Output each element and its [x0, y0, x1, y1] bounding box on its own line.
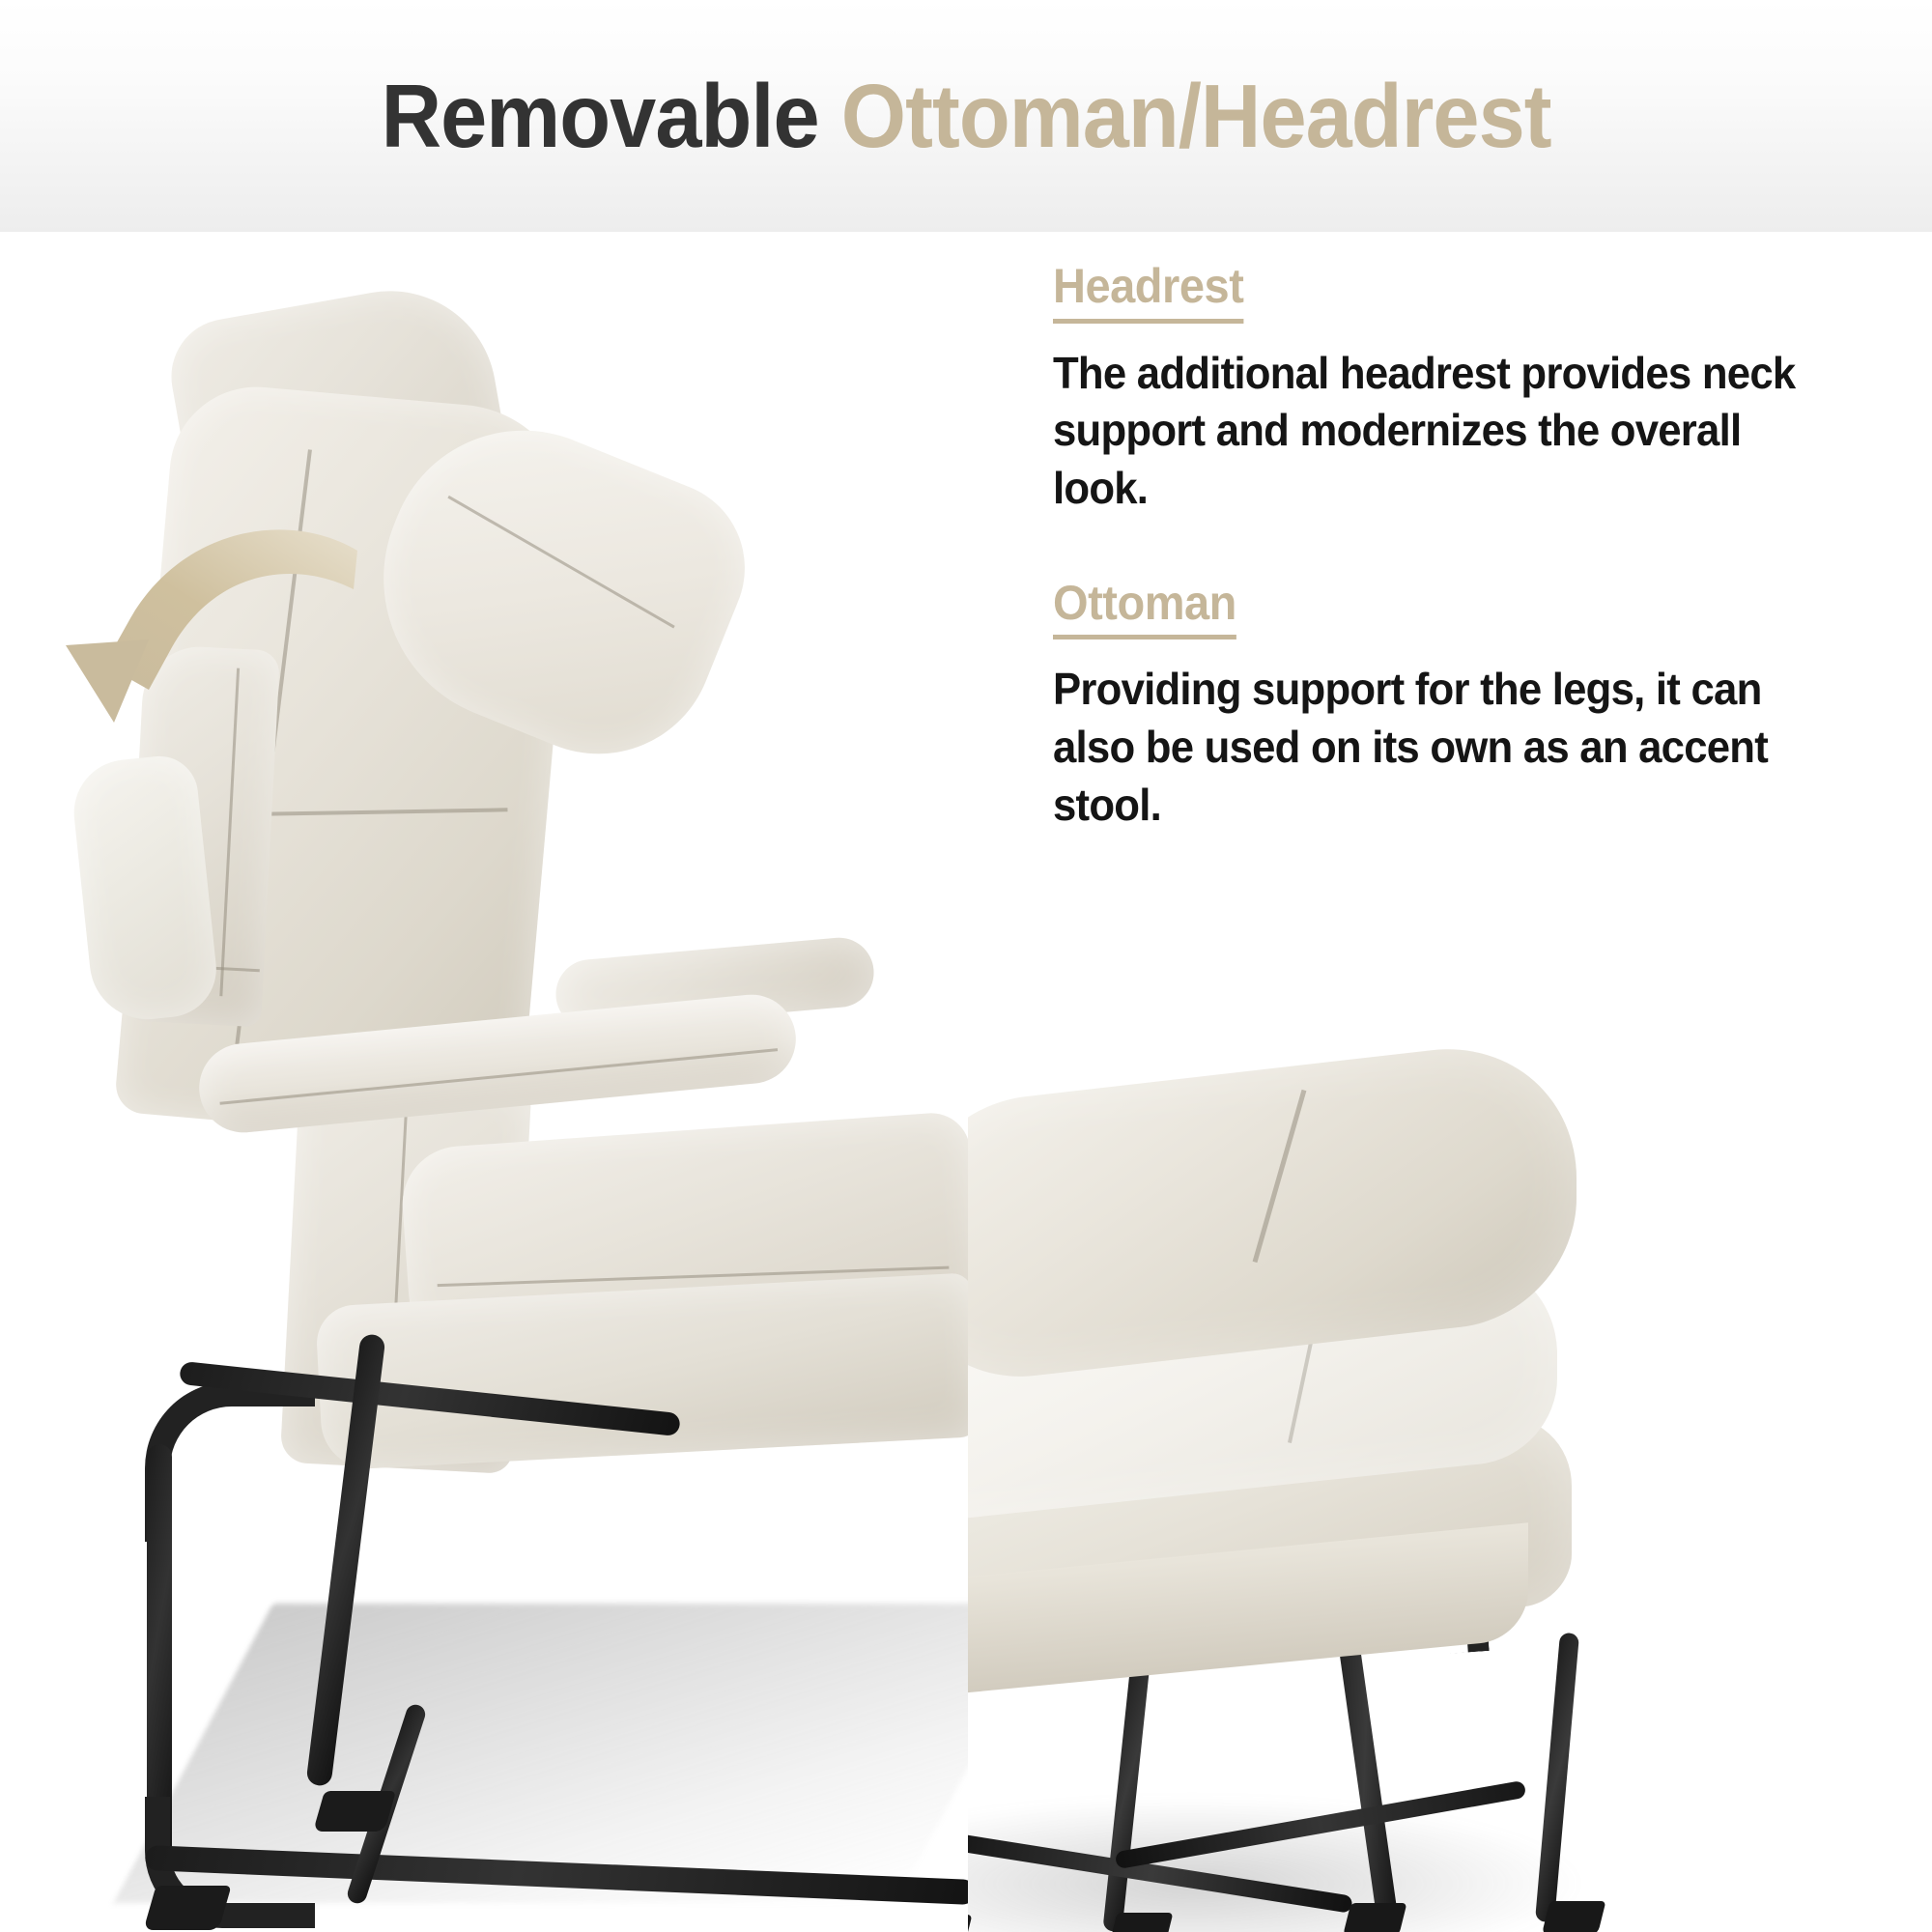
- ottoman-foot-cap: [1343, 1903, 1407, 1932]
- chair-image-panel: [0, 232, 968, 1932]
- section-heading-ottoman: Ottoman: [1053, 578, 1236, 640]
- section-body-headrest: The additional headrest provides neck su…: [1053, 345, 1842, 518]
- chair-foot-cap: [313, 1791, 396, 1832]
- feature-section-ottoman: Ottoman Providing support for the legs, …: [1053, 578, 1884, 835]
- headrest-fold-down-arrow-icon: [48, 493, 377, 753]
- chair-illustration: [0, 232, 968, 1932]
- page-title-part-dark: Removable: [381, 66, 840, 166]
- section-body-ottoman: Providing support for the legs, it can a…: [1053, 661, 1842, 834]
- chair-foot-cap: [143, 1886, 231, 1930]
- ottoman-foot-cap: [1542, 1901, 1606, 1932]
- seam: [219, 1048, 778, 1105]
- section-heading-headrest: Headrest: [1053, 261, 1243, 324]
- chair-seat-base: [315, 1272, 968, 1470]
- ottoman-foot-cap: [1109, 1913, 1174, 1932]
- page-title: Removable Ottoman/Headrest: [381, 71, 1550, 161]
- feature-section-headrest: Headrest The additional headrest provide…: [1053, 261, 1884, 518]
- seam: [447, 496, 674, 629]
- header-banner: Removable Ottoman/Headrest: [0, 0, 1932, 232]
- feature-text-column: Headrest The additional headrest provide…: [1053, 261, 1884, 895]
- page-title-part-tan: Ottoman/Headrest: [841, 66, 1551, 166]
